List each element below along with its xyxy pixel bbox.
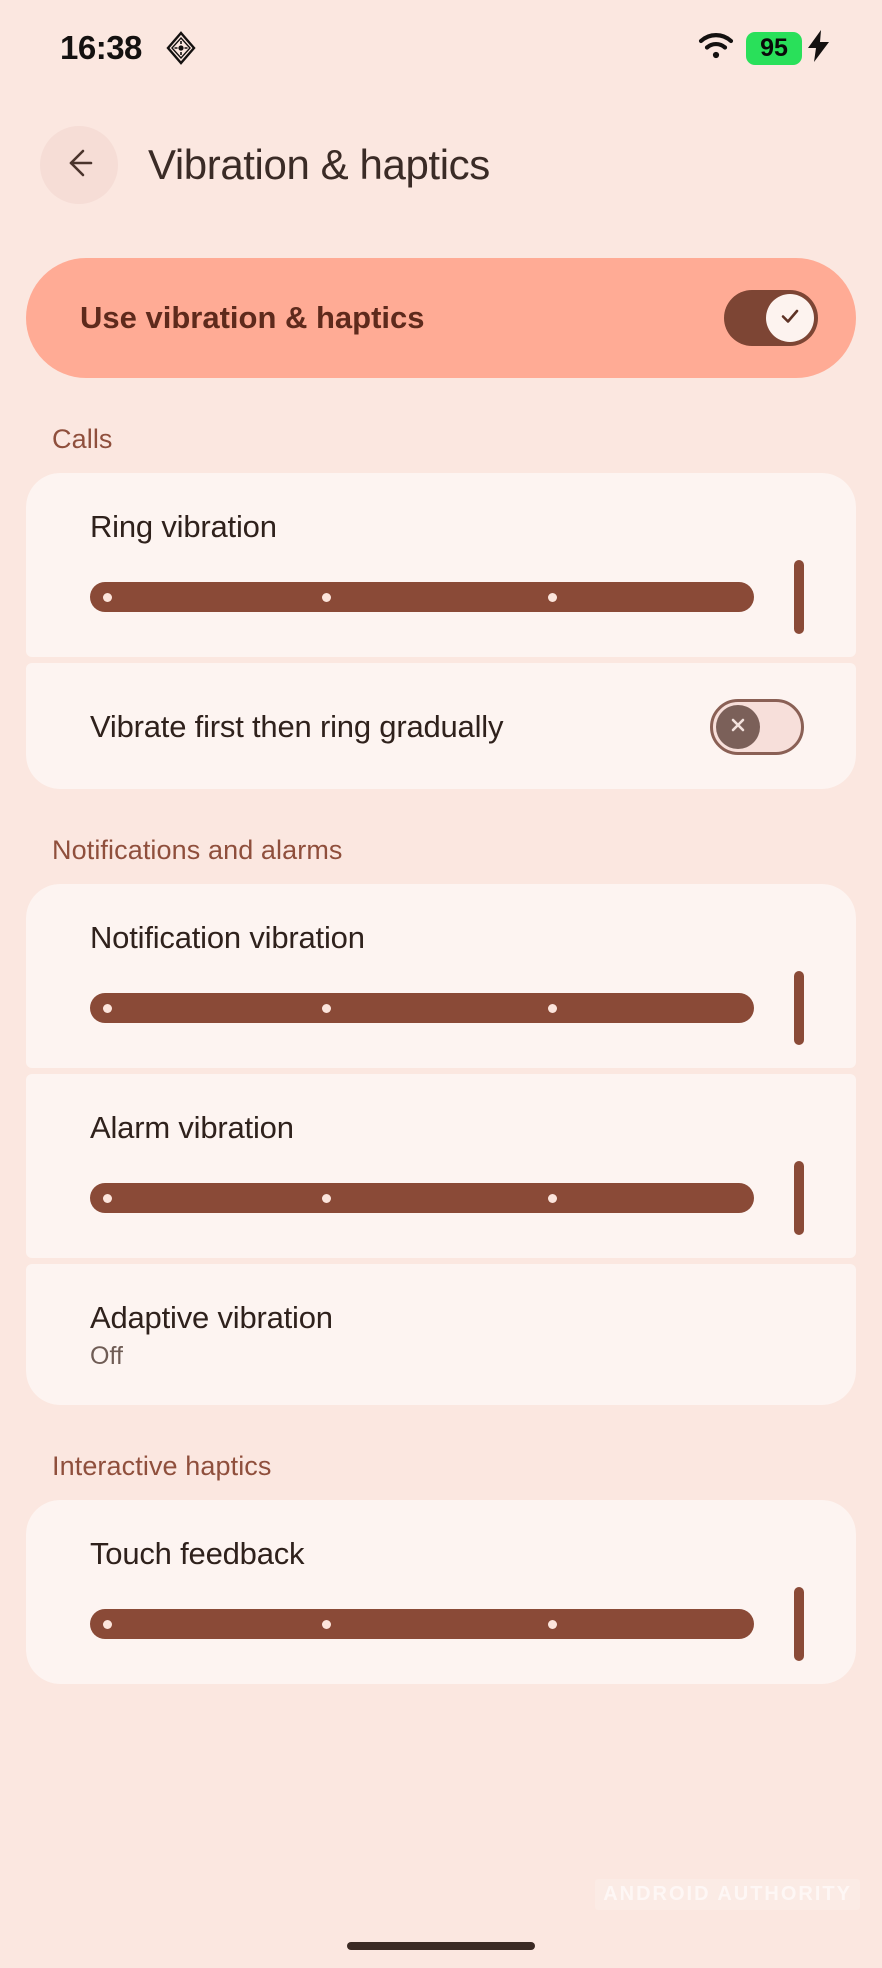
row-title: Alarm vibration (90, 1110, 804, 1146)
toggle-thumb (766, 294, 814, 342)
diamond-vibration-icon (164, 31, 198, 65)
slider-thumb[interactable] (794, 560, 804, 634)
slider-tick (322, 1620, 331, 1629)
row-alarm-vibration[interactable]: Alarm vibration (26, 1074, 856, 1258)
wifi-icon (698, 32, 734, 65)
status-bar-right: 95 (698, 30, 830, 67)
watermark: ANDROID AUTHORITY (595, 1879, 860, 1910)
row-subtitle: Off (90, 1342, 804, 1371)
section-header-interactive-haptics: Interactive haptics (0, 1405, 882, 1500)
close-icon (726, 713, 750, 742)
vibrate-first-toggle-switch[interactable] (710, 699, 804, 755)
slider-thumb[interactable] (794, 1161, 804, 1235)
status-clock: 16:38 (60, 29, 142, 67)
slider-tick (548, 1004, 557, 1013)
slider-tick (103, 593, 112, 602)
row-title: Notification vibration (90, 920, 804, 956)
slider-tick (322, 1194, 331, 1203)
lightning-bolt-icon (808, 30, 830, 67)
slider-tick (548, 1194, 557, 1203)
row-touch-feedback[interactable]: Touch feedback (26, 1500, 856, 1684)
settings-scroll-area[interactable]: Calls Ring vibration Vibrate first then … (0, 378, 882, 1684)
slider-track (90, 993, 754, 1023)
slider-tick (103, 1004, 112, 1013)
status-bar-left: 16:38 (60, 29, 198, 67)
notification-vibration-slider[interactable] (90, 982, 804, 1034)
row-adaptive-vibration[interactable]: Adaptive vibration Off (26, 1264, 856, 1405)
master-vibration-toggle-card[interactable]: Use vibration & haptics (26, 258, 856, 378)
row-title: Ring vibration (90, 509, 804, 545)
battery-level-text: 95 (760, 36, 788, 61)
row-title: Adaptive vibration (90, 1300, 804, 1336)
status-bar: 16:38 95 (0, 0, 882, 96)
slider-tick (548, 1620, 557, 1629)
row-ring-vibration[interactable]: Ring vibration (26, 473, 856, 657)
alarm-vibration-slider[interactable] (90, 1172, 804, 1224)
card-group-notifications: Notification vibration Alarm vibration A… (26, 884, 856, 1405)
row-notification-vibration[interactable]: Notification vibration (26, 884, 856, 1068)
master-toggle-label: Use vibration & haptics (80, 300, 425, 336)
row-vibrate-first-then-ring[interactable]: Vibrate first then ring gradually (26, 663, 856, 789)
battery-indicator: 95 (746, 32, 802, 65)
navigation-pill[interactable] (347, 1942, 535, 1950)
slider-tick (103, 1620, 112, 1629)
slider-track (90, 1183, 754, 1213)
master-toggle-switch[interactable] (724, 290, 818, 346)
slider-thumb[interactable] (794, 1587, 804, 1661)
card-group-interactive-haptics: Touch feedback (26, 1500, 856, 1684)
slider-thumb[interactable] (794, 971, 804, 1045)
toggle-thumb (716, 705, 760, 749)
slider-tick (548, 593, 557, 602)
check-icon (777, 303, 803, 334)
slider-tick (322, 593, 331, 602)
slider-tick (322, 1004, 331, 1013)
ring-vibration-slider[interactable] (90, 571, 804, 623)
slider-tick (103, 1194, 112, 1203)
slider-track (90, 582, 754, 612)
back-arrow-icon (61, 145, 97, 186)
touch-feedback-slider[interactable] (90, 1598, 804, 1650)
row-title: Vibrate first then ring gradually (90, 709, 503, 745)
slider-track (90, 1609, 754, 1639)
card-group-calls: Ring vibration Vibrate first then ring g… (26, 473, 856, 789)
app-header: Vibration & haptics (0, 96, 882, 242)
section-header-notifications-and-alarms: Notifications and alarms (0, 789, 882, 884)
page-title: Vibration & haptics (148, 141, 490, 189)
section-header-calls: Calls (0, 378, 882, 473)
row-title: Touch feedback (90, 1536, 804, 1572)
back-button[interactable] (40, 126, 118, 204)
